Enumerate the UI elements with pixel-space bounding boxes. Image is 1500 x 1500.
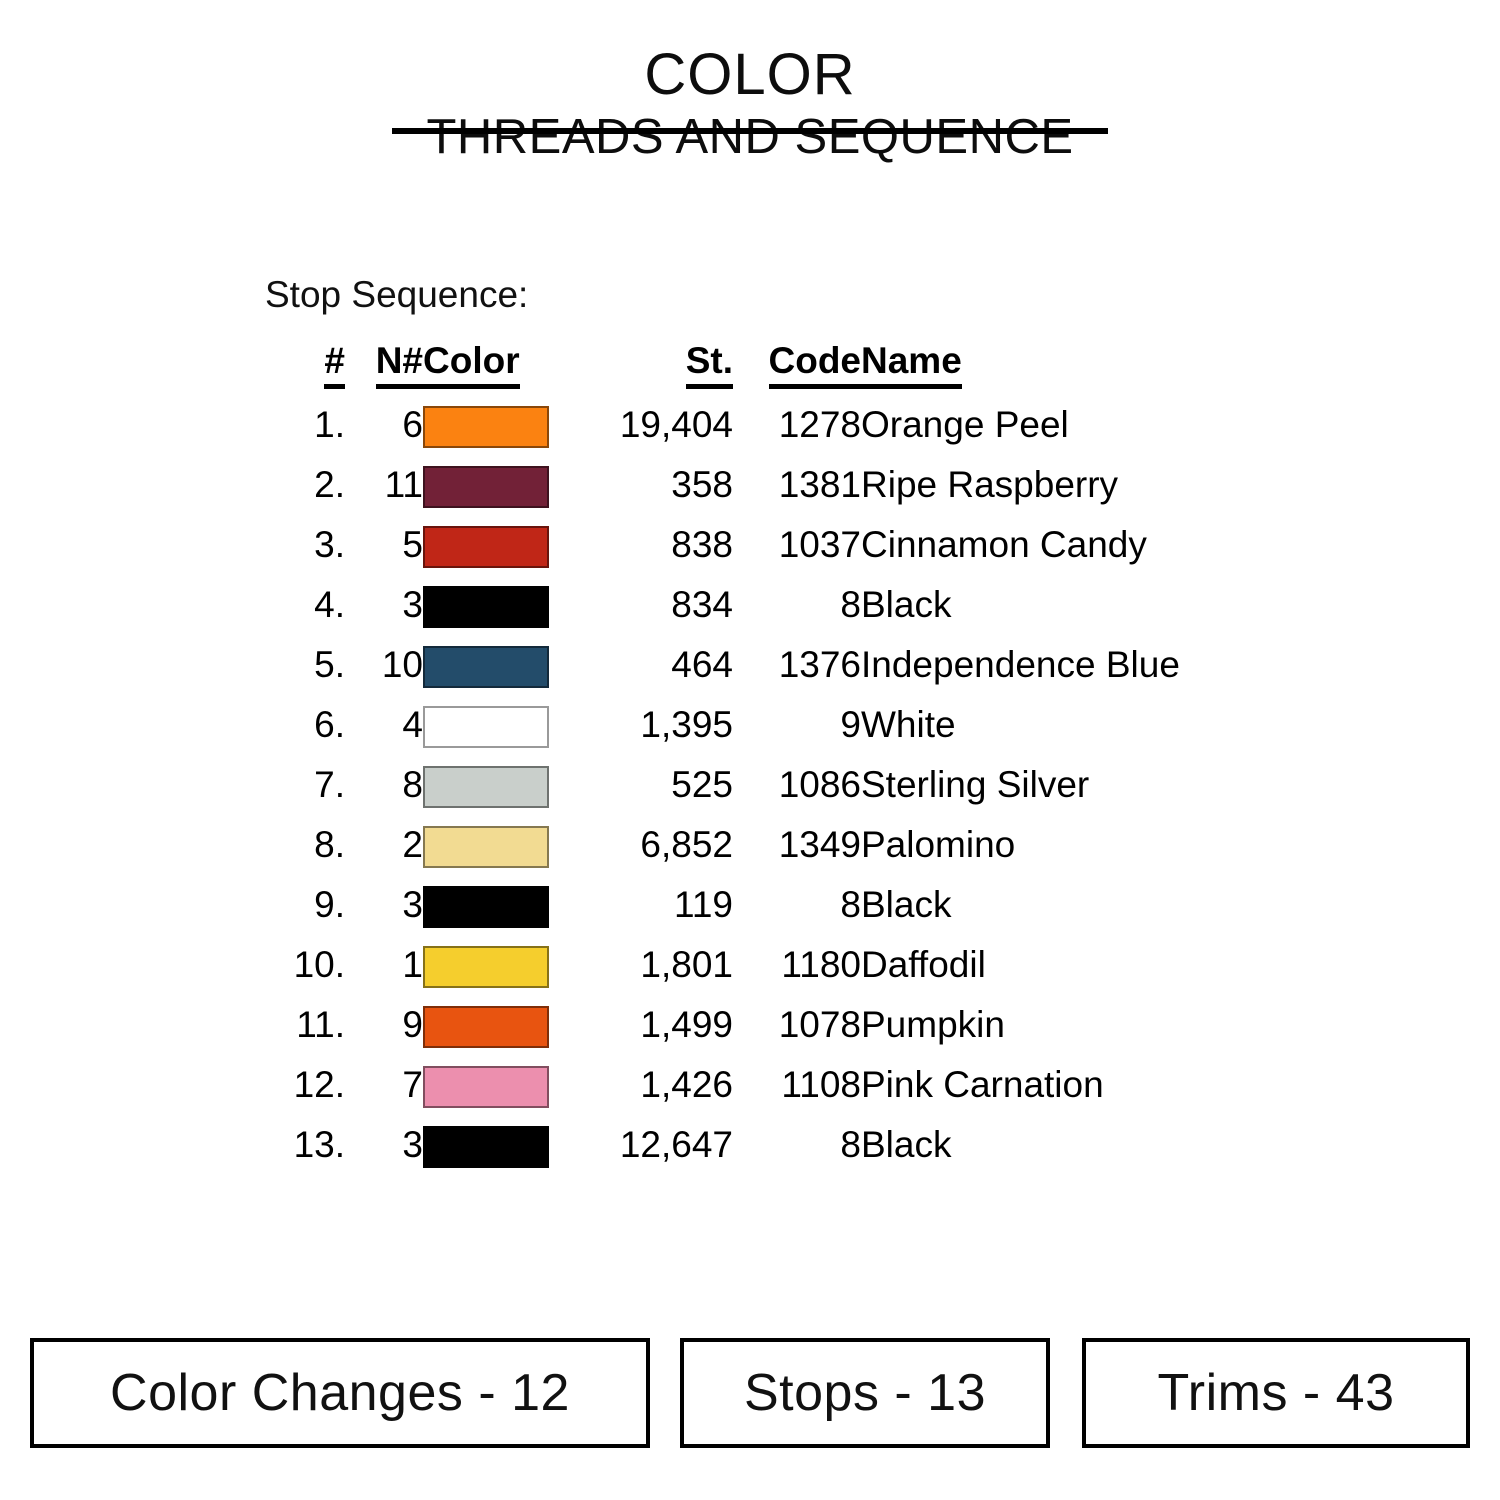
color-swatch: [423, 826, 549, 868]
summary-row: Color Changes - 12 Stops - 13 Trims - 43: [0, 1338, 1500, 1448]
cell-name: Ripe Raspberry: [861, 455, 1275, 515]
summary-color-changes-label: Color Changes - 12: [110, 1364, 570, 1422]
cell-stitches: 1,499: [563, 995, 733, 1055]
cell-index: 13.: [265, 1115, 345, 1175]
cell-needle: 4: [345, 695, 423, 755]
page-title: COLOR: [0, 42, 1500, 108]
cell-stitches: 19,404: [563, 395, 733, 455]
color-swatch: [423, 586, 549, 628]
cell-code: 1078: [733, 995, 861, 1055]
color-swatch: [423, 886, 549, 928]
cell-stitches: 1,801: [563, 935, 733, 995]
cell-code: 9: [733, 695, 861, 755]
cell-color-swatch: [423, 455, 563, 515]
cell-color-swatch: [423, 875, 563, 935]
cell-needle: 9: [345, 995, 423, 1055]
column-header-stitches: St.: [563, 335, 733, 395]
column-header-color: Color: [423, 335, 563, 395]
cell-stitches: 358: [563, 455, 733, 515]
cell-stitches: 12,647: [563, 1115, 733, 1175]
table-row: 1.619,4041278Orange Peel: [265, 395, 1275, 455]
color-swatch: [423, 646, 549, 688]
cell-stitches: 119: [563, 875, 733, 935]
cell-index: 6.: [265, 695, 345, 755]
cell-needle: 10: [345, 635, 423, 695]
table-header-row: # N# Color St. Code Name: [265, 335, 1275, 395]
table-row: 5.104641376Independence Blue: [265, 635, 1275, 695]
cell-name: White: [861, 695, 1275, 755]
cell-stitches: 6,852: [563, 815, 733, 875]
cell-code: 8: [733, 875, 861, 935]
cell-stitches: 834: [563, 575, 733, 635]
thread-sequence-table: # N# Color St. Code Name 1.619,4041278Or…: [265, 335, 1275, 1175]
cell-color-swatch: [423, 575, 563, 635]
cell-stitches: 464: [563, 635, 733, 695]
cell-index: 1.: [265, 395, 345, 455]
cell-name: Sterling Silver: [861, 755, 1275, 815]
cell-name: Independence Blue: [861, 635, 1275, 695]
table-row: 3.58381037Cinnamon Candy: [265, 515, 1275, 575]
summary-box-trims: Trims - 43: [1082, 1338, 1470, 1448]
cell-color-swatch: [423, 515, 563, 575]
title-underline-rule: [392, 128, 1108, 134]
color-swatch: [423, 1126, 549, 1168]
cell-code: 1381: [733, 455, 861, 515]
cell-code: 1349: [733, 815, 861, 875]
column-header-needle: N#: [345, 335, 423, 395]
cell-name: Black: [861, 875, 1275, 935]
cell-index: 12.: [265, 1055, 345, 1115]
table-row: 7.85251086Sterling Silver: [265, 755, 1275, 815]
color-swatch: [423, 1066, 549, 1108]
table-row: 2.113581381Ripe Raspberry: [265, 455, 1275, 515]
cell-color-swatch: [423, 995, 563, 1055]
cell-color-swatch: [423, 935, 563, 995]
cell-index: 4.: [265, 575, 345, 635]
table-row: 4.38348Black: [265, 575, 1275, 635]
cell-code: 8: [733, 1115, 861, 1175]
cell-code: 1108: [733, 1055, 861, 1115]
cell-color-swatch: [423, 1055, 563, 1115]
cell-name: Cinnamon Candy: [861, 515, 1275, 575]
cell-code: 1278: [733, 395, 861, 455]
cell-color-swatch: [423, 1115, 563, 1175]
cell-stitches: 1,395: [563, 695, 733, 755]
cell-code: 8: [733, 575, 861, 635]
summary-stops-label: Stops - 13: [744, 1364, 986, 1422]
cell-stitches: 838: [563, 515, 733, 575]
table-row: 13.312,6478Black: [265, 1115, 1275, 1175]
summary-trims-label: Trims - 43: [1157, 1364, 1394, 1422]
cell-code: 1037: [733, 515, 861, 575]
cell-needle: 3: [345, 1115, 423, 1175]
color-swatch: [423, 766, 549, 808]
column-header-name: Name: [861, 335, 1275, 395]
cell-color-swatch: [423, 395, 563, 455]
table-body: 1.619,4041278Orange Peel2.113581381Ripe …: [265, 395, 1275, 1175]
cell-needle: 7: [345, 1055, 423, 1115]
cell-index: 8.: [265, 815, 345, 875]
cell-needle: 6: [345, 395, 423, 455]
cell-stitches: 1,426: [563, 1055, 733, 1115]
summary-box-color-changes: Color Changes - 12: [30, 1338, 650, 1448]
cell-needle: 2: [345, 815, 423, 875]
cell-needle: 1: [345, 935, 423, 995]
color-swatch: [423, 526, 549, 568]
color-swatch: [423, 466, 549, 508]
page-subtitle: THREADS AND SEQUENCE: [0, 108, 1500, 166]
table-row: 9.31198Black: [265, 875, 1275, 935]
cell-name: Black: [861, 575, 1275, 635]
cell-index: 9.: [265, 875, 345, 935]
page-title-block: COLOR THREADS AND SEQUENCE: [0, 42, 1500, 166]
column-header-index: #: [265, 335, 345, 395]
cell-needle: 3: [345, 875, 423, 935]
table-row: 10.11,8011180Daffodil: [265, 935, 1275, 995]
cell-needle: 11: [345, 455, 423, 515]
table-row: 12.71,4261108Pink Carnation: [265, 1055, 1275, 1115]
cell-name: Palomino: [861, 815, 1275, 875]
cell-color-swatch: [423, 815, 563, 875]
cell-index: 11.: [265, 995, 345, 1055]
table-row: 8.26,8521349Palomino: [265, 815, 1275, 875]
summary-box-stops: Stops - 13: [680, 1338, 1050, 1448]
table-row: 6.41,3959White: [265, 695, 1275, 755]
cell-name: Daffodil: [861, 935, 1275, 995]
color-swatch: [423, 406, 549, 448]
cell-code: 1086: [733, 755, 861, 815]
cell-name: Pink Carnation: [861, 1055, 1275, 1115]
cell-stitches: 525: [563, 755, 733, 815]
cell-name: Black: [861, 1115, 1275, 1175]
cell-needle: 5: [345, 515, 423, 575]
color-swatch: [423, 706, 549, 748]
cell-color-swatch: [423, 635, 563, 695]
cell-code: 1180: [733, 935, 861, 995]
cell-index: 7.: [265, 755, 345, 815]
color-swatch: [423, 1006, 549, 1048]
cell-name: Orange Peel: [861, 395, 1275, 455]
cell-index: 2.: [265, 455, 345, 515]
cell-name: Pumpkin: [861, 995, 1275, 1055]
color-swatch: [423, 946, 549, 988]
stop-sequence-label: Stop Sequence:: [265, 273, 528, 317]
cell-index: 10.: [265, 935, 345, 995]
column-header-code: Code: [733, 335, 861, 395]
cell-needle: 3: [345, 575, 423, 635]
cell-color-swatch: [423, 755, 563, 815]
cell-index: 5.: [265, 635, 345, 695]
cell-code: 1376: [733, 635, 861, 695]
cell-color-swatch: [423, 695, 563, 755]
cell-index: 3.: [265, 515, 345, 575]
cell-needle: 8: [345, 755, 423, 815]
table-row: 11.91,4991078Pumpkin: [265, 995, 1275, 1055]
